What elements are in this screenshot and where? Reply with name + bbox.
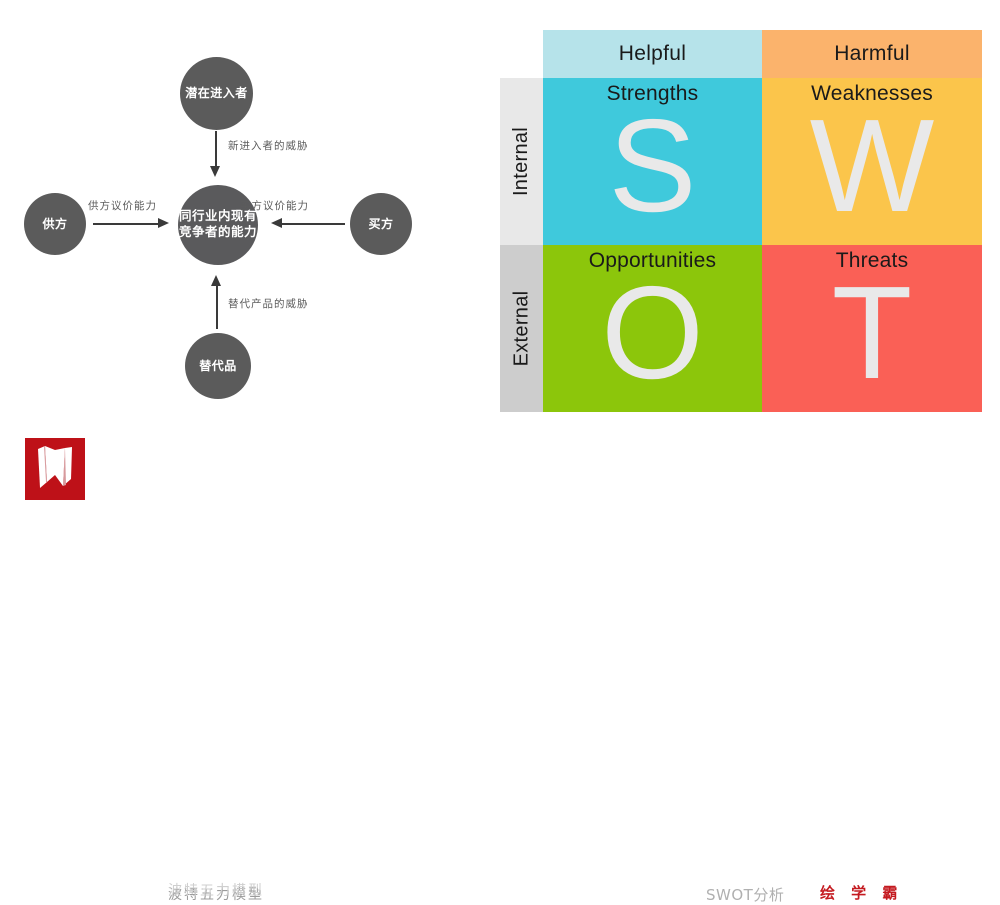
swot-quadrant-threats-title: Threats <box>762 249 982 273</box>
arrow-up-icon <box>211 275 221 286</box>
swot-quadrant-opportunities-letter: O <box>543 267 762 399</box>
swot-row-header-external-label: External <box>510 291 533 367</box>
swot-quadrant-weaknesses[interactable]: Weaknesses W <box>762 78 982 245</box>
swot-quadrant-strengths[interactable]: Strengths S <box>543 78 762 245</box>
swot-quadrant-opportunities[interactable]: Opportunities O <box>543 245 762 412</box>
caption-porter-ghost: 波特五力模型 <box>168 880 264 900</box>
porter-five-forces-diagram: 潜在进入者 供方 买方 同行业内现有竞争者的能力 替代品 新进入者的威胁 供方议… <box>0 0 478 425</box>
swot-matrix: Helpful Harmful Internal Strengths S Wea… <box>500 30 982 412</box>
porter-node-substitutes[interactable]: 替代品 <box>185 333 251 399</box>
arrow-right-icon <box>158 218 169 228</box>
swot-quadrant-threats[interactable]: Threats T <box>762 245 982 412</box>
edge-label-buyer-bargaining-power: 买方议价能力 <box>240 198 309 213</box>
edge-label-supplier-bargaining-power: 供方议价能力 <box>88 198 157 213</box>
arrow-down-icon <box>210 166 220 177</box>
arrow-left-icon <box>271 218 282 228</box>
swot-row-header-internal: Internal <box>500 78 543 245</box>
porter-node-industry-rivalry[interactable]: 同行业内现有竞争者的能力 <box>178 185 258 265</box>
swot-column-header-harmful: Harmful <box>762 30 982 78</box>
brand-logo-icon <box>25 438 85 500</box>
swot-quadrant-threats-letter: T <box>762 267 982 399</box>
porter-node-supplier[interactable]: 供方 <box>24 193 86 255</box>
swot-quadrant-weaknesses-letter: W <box>762 100 982 232</box>
swot-row-header-external: External <box>500 245 543 412</box>
porter-node-potential-entrants[interactable]: 潜在进入者 <box>180 57 253 130</box>
footer-bar: 波特五力模型 波特五力模型 SWOT分析 绘 学 霸 <box>0 425 1000 513</box>
arrow-buyer-to-center-line <box>277 223 345 225</box>
caption-swot-analysis: SWOT分析 <box>706 884 784 905</box>
swot-quadrant-opportunities-title: Opportunities <box>543 249 762 273</box>
swot-column-header-helpful: Helpful <box>543 30 762 78</box>
brand-wordmark: 绘 学 霸 <box>820 882 903 903</box>
edge-label-threat-of-substitutes: 替代产品的威胁 <box>228 296 309 311</box>
swot-row-header-internal-label: Internal <box>510 127 533 196</box>
porter-node-buyer[interactable]: 买方 <box>350 193 412 255</box>
swot-quadrant-weaknesses-title: Weaknesses <box>762 82 982 106</box>
swot-quadrant-strengths-title: Strengths <box>543 82 762 106</box>
arrow-supplier-to-center-line <box>93 223 161 225</box>
caption-porter-five-forces: 波特五力模型 波特五力模型 <box>168 884 264 904</box>
swot-corner-blank <box>500 30 543 78</box>
edge-label-threat-of-new-entrants: 新进入者的威胁 <box>228 138 309 153</box>
arrow-substitutes-to-center-line <box>216 285 218 329</box>
swot-quadrant-strengths-letter: S <box>543 100 762 232</box>
arrow-entrants-to-center-line <box>215 131 217 169</box>
